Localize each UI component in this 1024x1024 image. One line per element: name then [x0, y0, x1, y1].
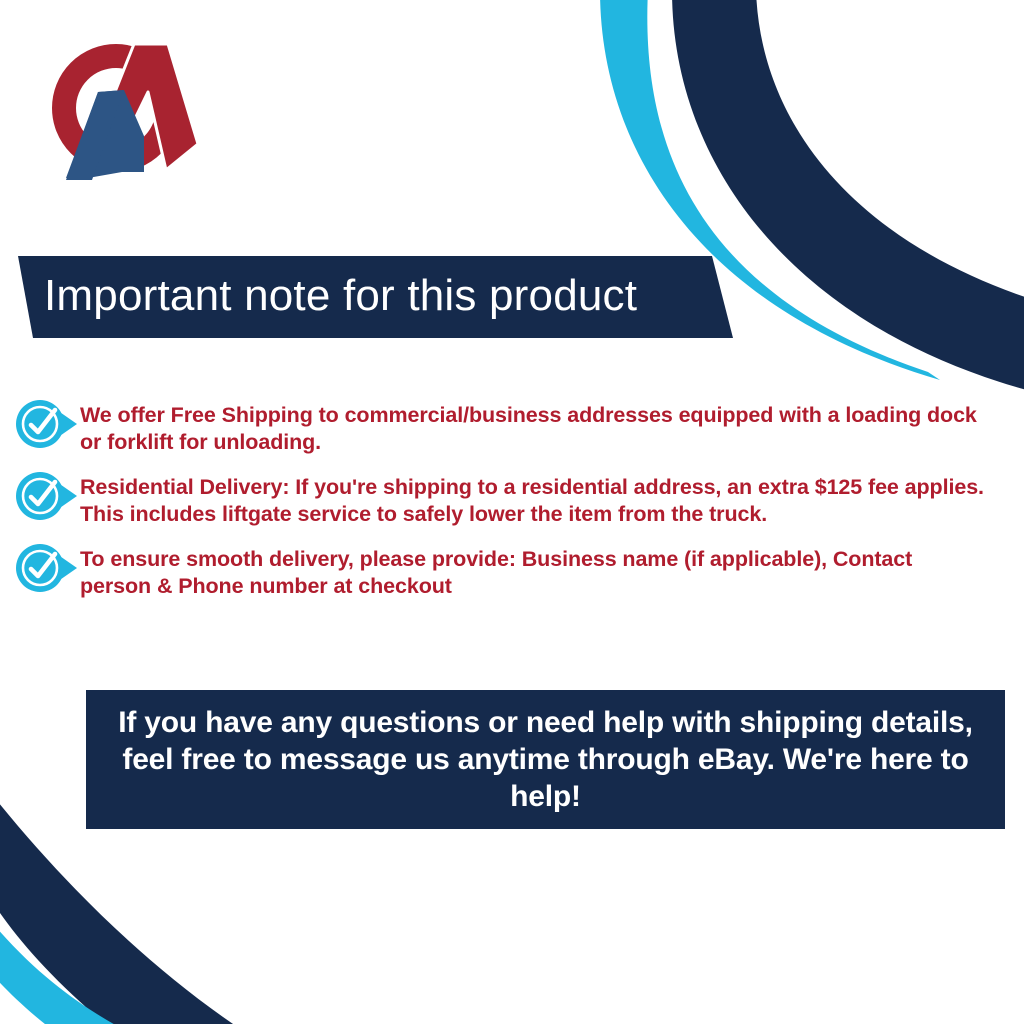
contact-callout-text: If you have any questions or need help w…: [86, 704, 1005, 815]
list-item: We offer Free Shipping to commercial/bus…: [14, 396, 1004, 455]
check-circle-icon: [14, 398, 80, 450]
list-item: To ensure smooth delivery, please provid…: [14, 540, 1004, 599]
bottom-left-cyan-arc: [0, 920, 132, 1024]
list-item-text: We offer Free Shipping to commercial/bus…: [80, 396, 1004, 455]
page-title: Important note for this product: [44, 254, 637, 338]
page-canvas: Important note for this product We offer…: [0, 0, 1024, 1024]
banner: Important note for this product: [0, 254, 760, 340]
notes-list: We offer Free Shipping to commercial/bus…: [14, 396, 1004, 612]
contact-callout: If you have any questions or need help w…: [86, 690, 1005, 829]
check-circle-icon: [14, 470, 80, 522]
company-logo: [48, 32, 206, 192]
list-item-text: To ensure smooth delivery, please provid…: [80, 540, 1004, 599]
list-item-text: Residential Delivery: If you're shipping…: [80, 468, 1004, 527]
check-circle-icon: [14, 542, 80, 594]
list-item: Residential Delivery: If you're shipping…: [14, 468, 1004, 527]
